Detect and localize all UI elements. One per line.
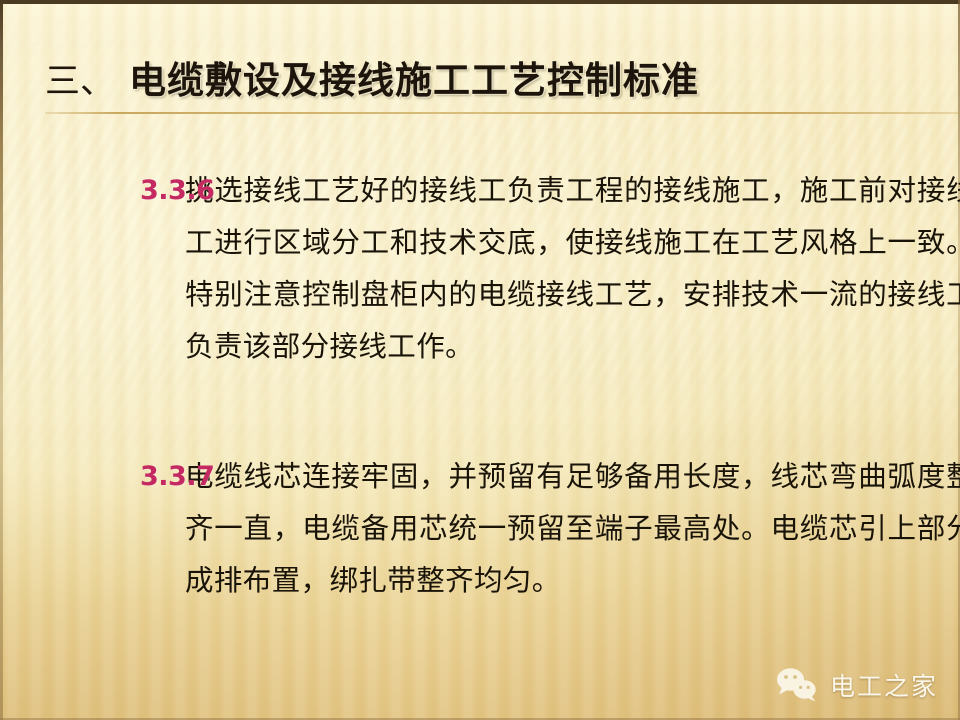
- title-section-prefix: 三、: [45, 65, 115, 100]
- slide-border-top: [0, 0, 960, 4]
- body-paragraph: 3.3.6 挑选接线工艺好的接线工负责工程的接线施工，施工前对接线工进行区域分工…: [140, 165, 960, 373]
- watermark: 电工之家: [775, 666, 938, 704]
- body-paragraph: 3.3.7 电缆线芯连接牢固，并预留有足够备用长度，线芯弯曲弧度整齐一直，电缆备…: [140, 451, 960, 607]
- paragraph-text: 挑选接线工艺好的接线工负责工程的接线施工，施工前对接线工进行区域分工和技术交底，…: [185, 165, 960, 373]
- paragraph-text: 电缆线芯连接牢固，并预留有足够备用长度，线芯弯曲弧度整齐一直，电缆备用芯统一预留…: [185, 451, 960, 607]
- paragraph-spacer: [0, 373, 960, 451]
- wechat-icon: [775, 666, 821, 704]
- title-reflection: 三、 电缆敷设及接线施工工艺控制标准: [45, 114, 945, 158]
- slide-title: 三、 电缆敷设及接线施工工艺控制标准: [45, 62, 945, 112]
- title-underline-rule: [45, 112, 960, 114]
- paragraph-number: 3.3.6: [140, 165, 214, 217]
- slide-title-block: 三、 电缆敷设及接线施工工艺控制标准 三、 电缆敷设及接线施工工艺控制标准: [0, 62, 960, 154]
- title-main-text: 电缆敷设及接线施工工艺控制标准: [129, 62, 699, 99]
- slide-canvas: 三、 电缆敷设及接线施工工艺控制标准 三、 电缆敷设及接线施工工艺控制标准 3.…: [0, 0, 960, 720]
- paragraph-number: 3.3.7: [140, 451, 214, 503]
- slide-body: 3.3.6 挑选接线工艺好的接线工负责工程的接线施工，施工前对接线工进行区域分工…: [0, 165, 960, 607]
- watermark-label: 电工之家: [830, 667, 938, 703]
